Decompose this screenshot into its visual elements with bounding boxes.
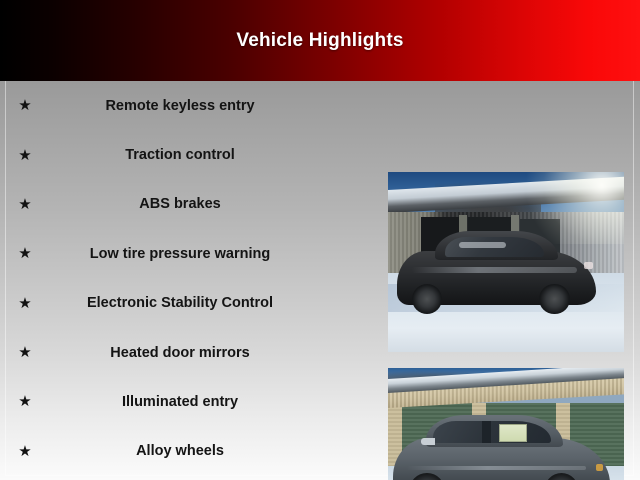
star-icon: ★ [16, 197, 34, 212]
star-icon: ★ [16, 296, 34, 311]
photo-car-bpillar [482, 421, 490, 444]
photo-car-marker-light [596, 464, 603, 471]
star-icon: ★ [16, 148, 34, 163]
vehicle-photo-side-gray [388, 368, 624, 480]
star-icon: ★ [16, 345, 34, 360]
feature-label: Illuminated entry [6, 394, 386, 410]
photo-car-wheel [539, 284, 570, 315]
photo-car-windows [433, 421, 551, 444]
content-area: ★ Remote keyless entry ★ Traction contro… [0, 81, 640, 480]
feature-label: Remote keyless entry [6, 98, 386, 114]
star-icon: ★ [16, 444, 34, 459]
list-item: ★ ABS brakes [6, 180, 386, 229]
header-banner: Vehicle Highlights [0, 0, 640, 81]
star-icon: ★ [16, 394, 34, 409]
feature-label: Alloy wheels [6, 443, 386, 459]
list-item: ★ Alloy wheels [6, 427, 386, 476]
photo-car-bodyline [412, 267, 577, 272]
list-item: ★ Low tire pressure warning [6, 229, 386, 278]
list-item: ★ Illuminated entry [6, 377, 386, 426]
photo-window-sticker [499, 424, 527, 442]
star-icon: ★ [16, 98, 34, 113]
feature-label: Heated door mirrors [6, 345, 386, 361]
photo-car-taillight [584, 262, 593, 269]
list-item: ★ Remote keyless entry [6, 81, 386, 130]
feature-list: ★ Remote keyless entry ★ Traction contro… [6, 81, 386, 476]
list-item: ★ Heated door mirrors [6, 328, 386, 377]
feature-label: Low tire pressure warning [6, 246, 386, 262]
photo-sun-flare [520, 172, 624, 244]
photo-car-bodyline [407, 466, 586, 470]
photo-car-mirror [421, 438, 435, 445]
vehicle-photo-side-dark [388, 172, 624, 352]
photo-window-glint [459, 242, 506, 247]
feature-label: ABS brakes [6, 196, 386, 212]
list-item: ★ Traction control [6, 130, 386, 179]
star-icon: ★ [16, 246, 34, 261]
vehicle-highlights-slide: Vehicle Highlights ★ Remote keyless entr… [0, 0, 640, 480]
list-item: ★ Electronic Stability Control [6, 279, 386, 328]
feature-label: Electronic Stability Control [6, 295, 386, 311]
feature-label: Traction control [6, 147, 386, 163]
page-title: Vehicle Highlights [0, 30, 640, 52]
